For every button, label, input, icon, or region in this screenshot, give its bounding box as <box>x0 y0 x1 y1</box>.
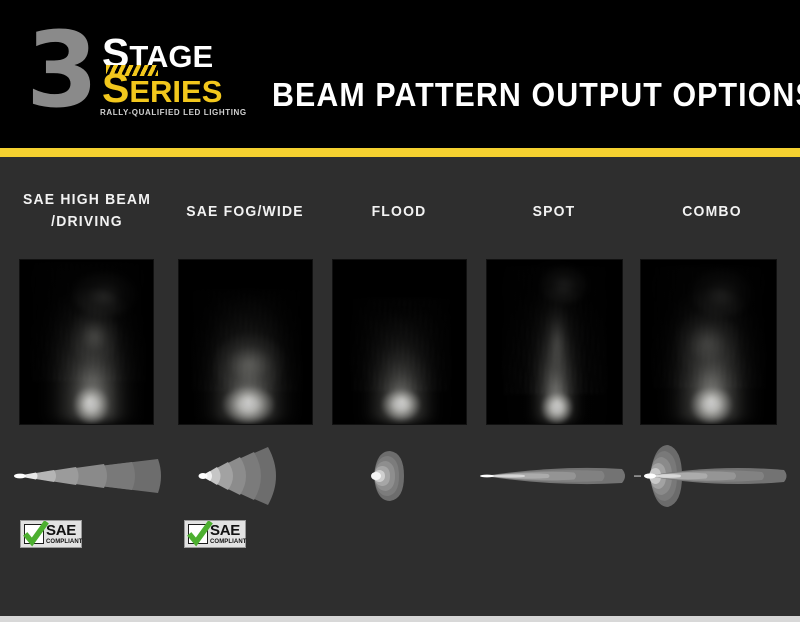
column-flood: FLOOD <box>324 157 474 616</box>
column-label-line1: SAE FOG/WIDE <box>186 203 304 220</box>
logo-series-cap: S <box>102 65 129 111</box>
badge-text: SAE COMPLIANT <box>210 523 247 545</box>
beam-photo-sae-fog-wide <box>178 259 313 425</box>
beam-photo-sae-high-beam-driving <box>19 259 154 425</box>
checkbox-icon <box>24 524 44 544</box>
column-combo: COMBO <box>632 157 792 616</box>
beam-diagram-combo <box>634 441 792 511</box>
beam-diagram-sae-fog-wide <box>196 445 316 507</box>
header-bar: 3 STAGE SERIES RALLY-QUALIFIED LED LIGHT… <box>0 0 800 148</box>
beam-photo-combo <box>640 259 777 425</box>
accent-divider <box>0 148 800 157</box>
logo-numeral: 3 <box>26 18 94 122</box>
checkbox-icon <box>188 524 208 544</box>
page-title: BEAM PATTERN OUTPUT OPTIONS <box>272 77 800 113</box>
beam-photo-spot <box>486 259 623 425</box>
column-label: SPOT <box>483 201 624 223</box>
content-area: SAE HIGH BEAM /DRIVING <box>0 157 800 616</box>
beam-diagram-flood <box>362 445 448 507</box>
badge-subtitle: COMPLIANT <box>210 539 247 545</box>
photo-vignette <box>179 260 312 424</box>
photo-vignette <box>20 260 153 424</box>
badge-title: SAE <box>210 523 247 538</box>
badge-subtitle: COMPLIANT <box>46 539 83 545</box>
photo-vignette <box>487 260 622 424</box>
stage-series-logo: 3 STAGE SERIES RALLY-QUALIFIED LED LIGHT… <box>22 22 252 132</box>
logo-word-series: SERIES <box>102 73 222 107</box>
photo-vignette <box>641 260 776 424</box>
sae-compliant-badge: SAE COMPLIANT <box>184 520 246 548</box>
column-label: SAE FOG/WIDE <box>175 201 315 223</box>
column-sae-fog-wide: SAE FOG/WIDE <box>170 157 320 616</box>
bottom-edge <box>0 616 800 622</box>
badge-text: SAE COMPLIANT <box>46 523 83 545</box>
column-label-line1: SAE HIGH BEAM <box>23 191 151 208</box>
sae-compliant-badge: SAE COMPLIANT <box>20 520 82 548</box>
check-icon <box>187 521 213 547</box>
column-label: COMBO <box>638 201 787 223</box>
check-icon <box>23 521 49 547</box>
column-label: FLOOD <box>329 201 469 223</box>
badge-title: SAE <box>46 523 83 538</box>
column-spot: SPOT <box>478 157 630 616</box>
column-label: SAE HIGH BEAM /DRIVING <box>14 189 161 233</box>
beam-diagram-sae-high-beam-driving <box>12 445 164 507</box>
column-label-line1: COMBO <box>682 203 742 220</box>
logo-series-rest: ERIES <box>129 74 222 109</box>
logo-tagline: RALLY-QUALIFIED LED LIGHTING <box>100 108 247 118</box>
column-label-line2: /DRIVING <box>51 213 123 230</box>
beam-pattern-chart: 3 STAGE SERIES RALLY-QUALIFIED LED LIGHT… <box>0 0 800 622</box>
column-label-line1: FLOOD <box>372 203 427 220</box>
column-label-line1: SPOT <box>533 203 576 220</box>
beam-photo-flood <box>332 259 467 425</box>
beam-diagram-spot <box>478 445 630 507</box>
photo-vignette <box>333 260 466 424</box>
column-sae-high-beam-driving: SAE HIGH BEAM /DRIVING <box>8 157 166 616</box>
